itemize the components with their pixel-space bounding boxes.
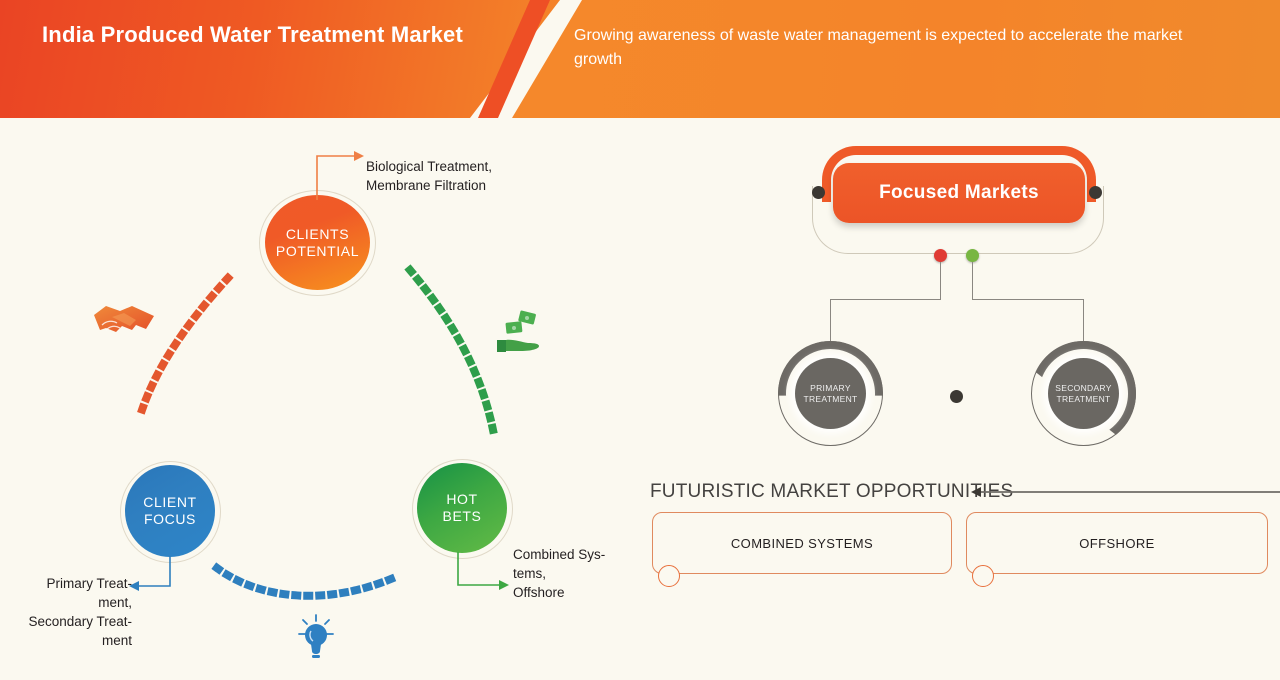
callout-hot-bets: Combined Sys- tems, Offshore xyxy=(513,545,623,602)
futuristic-box-combined-systems[interactable]: COMBINED SYSTEMS xyxy=(652,512,952,574)
bubble-clients-potential[interactable]: CLIENTS POTENTIAL xyxy=(265,195,370,290)
money-in-hand-icon xyxy=(495,310,543,355)
futuristic-box-offshore-label: OFFSHORE xyxy=(1079,536,1154,551)
status-dot-red xyxy=(934,249,947,262)
connector-green-vertical xyxy=(972,262,973,300)
focused-markets-banner[interactable]: Focused Markets xyxy=(833,163,1085,223)
handshake-icon xyxy=(92,295,156,343)
page-title: India Produced Water Treatment Market xyxy=(42,20,472,49)
secondary-treatment-node[interactable]: SECONDARY TREATMENT xyxy=(1031,341,1136,446)
futuristic-marker-combined-systems xyxy=(658,565,680,587)
secondary-treatment-label: SECONDARY TREATMENT xyxy=(1048,358,1119,429)
primary-treatment-label: PRIMARY TREATMENT xyxy=(795,358,866,429)
bubble-clients-potential-label: CLIENTS POTENTIAL xyxy=(276,226,359,260)
client-focus-connector xyxy=(120,556,200,596)
focused-markets-left-node-dot xyxy=(812,186,825,199)
center-divider-dot xyxy=(950,390,963,403)
dotted-arc-green xyxy=(410,270,494,435)
bubble-hot-bets[interactable]: HOT BETS xyxy=(417,463,507,553)
connector-red-vertical xyxy=(940,262,941,300)
bubble-hot-bets-label: HOT BETS xyxy=(443,491,482,525)
futuristic-arrow xyxy=(970,484,1280,500)
primary-treatment-node[interactable]: PRIMARY TREATMENT xyxy=(778,341,883,446)
callout-clients-potential: Biological Treatment, Membrane Filtratio… xyxy=(366,157,541,195)
futuristic-title: FUTURISTIC MARKET OPPORTUNITIES xyxy=(650,481,1013,503)
connector-green-horizontal xyxy=(972,299,1084,300)
futuristic-box-combined-systems-label: COMBINED SYSTEMS xyxy=(731,536,873,551)
focused-markets-right-node-dot xyxy=(1089,186,1102,199)
header-banner: India Produced Water Treatment Market Gr… xyxy=(0,0,1280,118)
futuristic-marker-offshore xyxy=(972,565,994,587)
status-dot-green xyxy=(966,249,979,262)
callout-client-focus: Primary Treat- ment, Secondary Treat- me… xyxy=(10,574,132,650)
connector-secondary-drop xyxy=(1083,299,1084,346)
connector-red-horizontal xyxy=(830,299,941,300)
dotted-arc-blue xyxy=(217,568,400,596)
connector-primary-drop xyxy=(830,299,831,346)
futuristic-box-offshore[interactable]: OFFSHORE xyxy=(966,512,1268,574)
lightbulb-icon xyxy=(298,614,334,660)
bubble-client-focus[interactable]: CLIENT FOCUS xyxy=(125,465,215,557)
header-subtitle: Growing awareness of waste water managem… xyxy=(574,24,1234,72)
infographic-canvas: India Produced Water Treatment Market Gr… xyxy=(0,0,1280,680)
bubble-client-focus-label: CLIENT FOCUS xyxy=(143,494,196,528)
header-left-panel xyxy=(0,0,560,118)
